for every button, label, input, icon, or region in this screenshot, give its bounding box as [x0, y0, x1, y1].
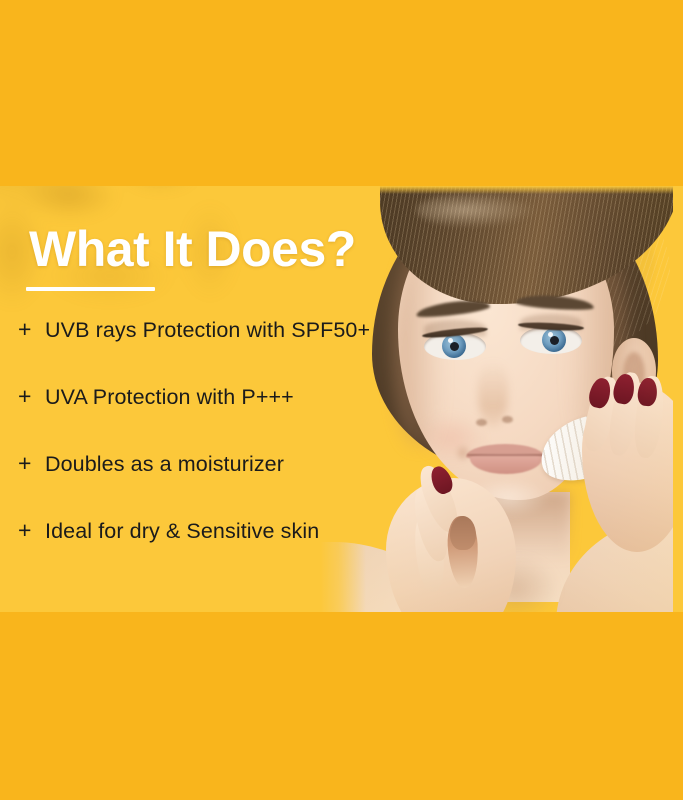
feature-label: UVB rays Protection with SPF50+ [45, 318, 370, 343]
list-item: + UVB rays Protection with SPF50+ [18, 318, 438, 385]
feature-label: UVA Protection with P+++ [45, 385, 294, 410]
banner-root: What It Does? + UVB rays Protection with… [0, 0, 683, 800]
eyelid-right [520, 314, 582, 330]
title-underline [26, 287, 155, 291]
lip-line [467, 454, 545, 456]
nostril-left [476, 419, 487, 426]
feature-label: Doubles as a moisturizer [45, 452, 284, 477]
plus-icon: + [18, 519, 45, 542]
list-item: + Ideal for dry & Sensitive skin [18, 519, 438, 586]
pupil-right [550, 336, 559, 345]
eye-glint-left [448, 338, 453, 343]
plus-icon: + [18, 452, 45, 475]
smile-crease [456, 442, 470, 464]
list-item: + UVA Protection with P+++ [18, 385, 438, 452]
plus-icon: + [18, 318, 45, 341]
thumbnail-left [450, 516, 476, 550]
pupil-left [450, 342, 459, 351]
feature-list: + UVB rays Protection with SPF50+ + UVA … [18, 318, 438, 586]
page-title: What It Does? [29, 224, 356, 274]
nostril-right [502, 416, 513, 423]
hair-part-highlight [416, 192, 536, 228]
feature-label: Ideal for dry & Sensitive skin [45, 519, 319, 544]
eye-glint-right [548, 332, 553, 337]
plus-icon: + [18, 385, 45, 408]
list-item: + Doubles as a moisturizer [18, 452, 438, 519]
